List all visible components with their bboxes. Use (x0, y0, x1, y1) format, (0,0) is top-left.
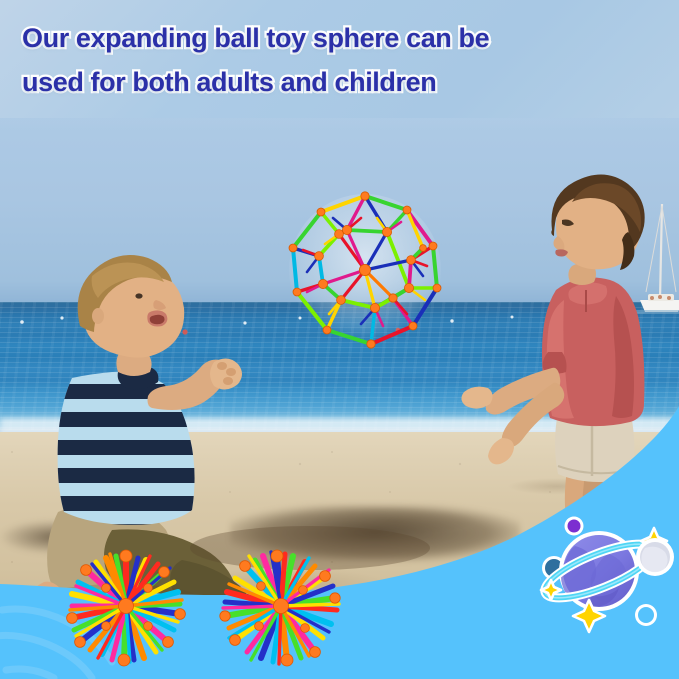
small-circle-icon (635, 604, 657, 626)
product-image: Our expanding ball toy sphere can be use… (0, 0, 679, 679)
expanded-ball-toy (283, 188, 447, 352)
collapsed-ball-left (62, 542, 190, 670)
planet-logo (533, 508, 679, 636)
headline-line-2: used for both adults and children (22, 60, 662, 104)
headline-line-1: Our expanding ball toy sphere can be (22, 16, 662, 60)
moon-large-icon (636, 538, 674, 576)
moon-small-icon (565, 517, 584, 536)
collapsed-ball-right (217, 542, 345, 670)
page-title: Our expanding ball toy sphere can be use… (22, 16, 662, 104)
headline-banner: Our expanding ball toy sphere can be use… (0, 0, 679, 118)
